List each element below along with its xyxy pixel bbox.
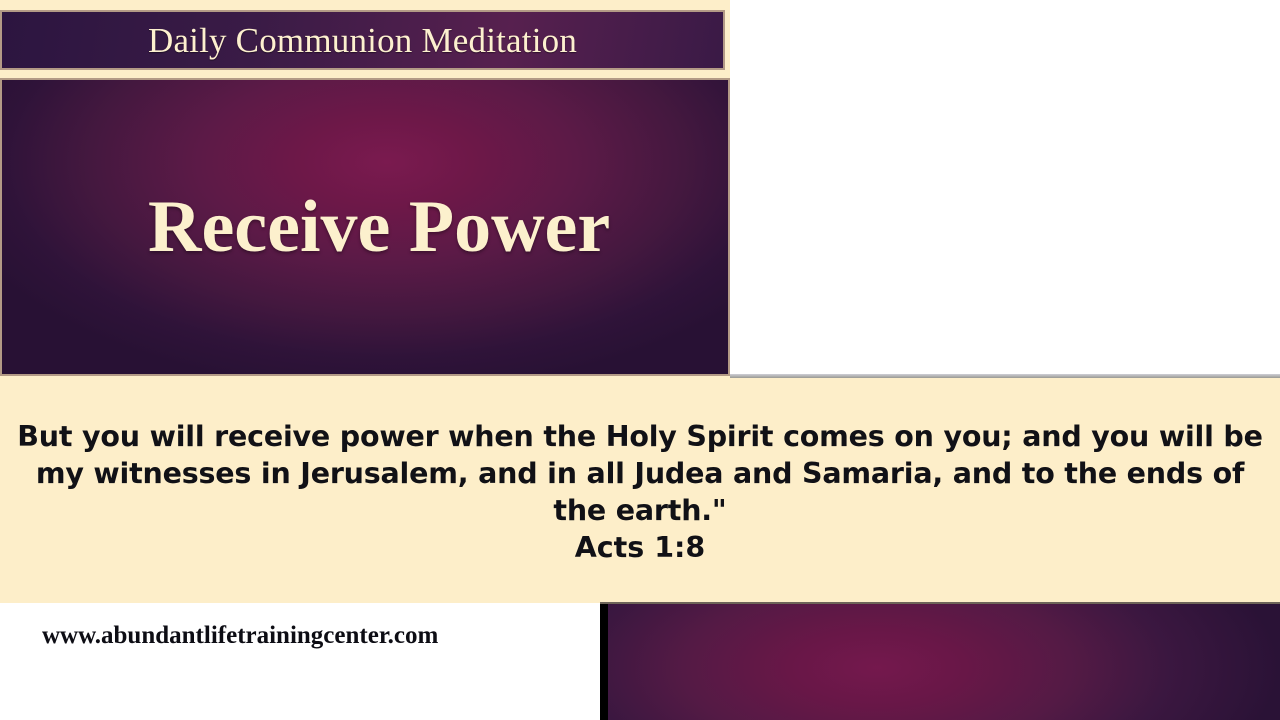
slide-title-panel: Receive Power bbox=[0, 78, 730, 376]
slide-header-title: Daily Communion Meditation bbox=[148, 23, 577, 58]
right-white-area bbox=[730, 0, 1280, 375]
scripture-verse-text: But you will receive power when the Holy… bbox=[9, 418, 1271, 529]
footer-purple-panel bbox=[600, 604, 1280, 720]
slide-header-bar: Daily Communion Meditation bbox=[0, 10, 725, 70]
scripture-verse-reference: Acts 1:8 bbox=[575, 529, 706, 566]
slide-main-title: Receive Power bbox=[148, 190, 610, 264]
scripture-band: But you will receive power when the Holy… bbox=[0, 378, 1280, 603]
website-url-text: www.abundantlifetrainingcenter.com bbox=[42, 620, 438, 652]
presentation-slide: Daily Communion Meditation Receive Power bbox=[0, 0, 730, 378]
